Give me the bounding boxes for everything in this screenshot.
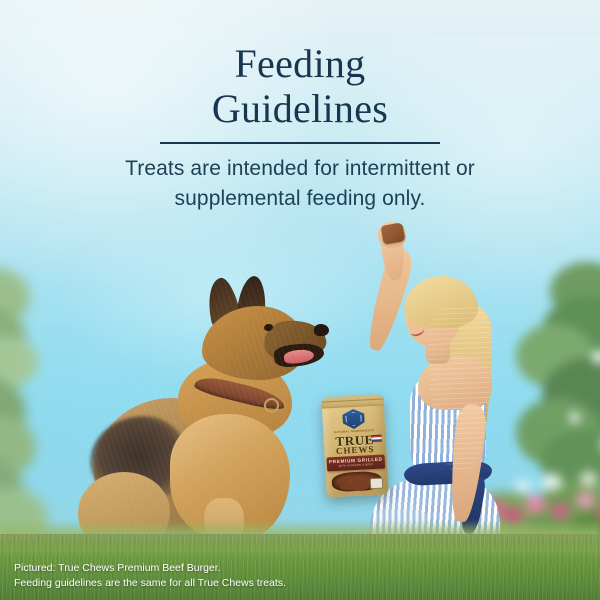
page-title: Feeding Guidelines: [0, 42, 600, 132]
caption-line1: Pictured: True Chews Premium Beef Burger…: [14, 562, 221, 574]
page-title-line2: Guidelines: [0, 87, 600, 132]
package-banner: PREMIUM GRILLED WITH CHICKEN & BEEF: [327, 454, 386, 471]
image-caption: Pictured: True Chews Premium Beef Burger…: [14, 561, 286, 593]
subtitle-line1: Treats are intended for intermittent or: [125, 157, 475, 180]
package-banner-line2: WITH CHICKEN & BEEF: [339, 464, 374, 468]
page-title-line1: Feeding: [235, 41, 366, 86]
usa-flag-icon: [371, 435, 381, 443]
caption-line2: Feeding guidelines are the same for all …: [14, 576, 286, 592]
blue-shield-logo-icon: [342, 408, 365, 429]
package-badge: [370, 478, 384, 490]
subtitle-line2: supplemental feeding only.: [40, 184, 560, 214]
title-divider: [160, 142, 440, 144]
marketing-graphic: NATURAL INGREDIENTS TRUE CHEWS PREMIUM G…: [0, 0, 600, 600]
dog-treat-icon: [381, 222, 406, 245]
true-chews-package: NATURAL INGREDIENTS TRUE CHEWS PREMIUM G…: [321, 394, 388, 497]
subtitle: Treats are intended for intermittent or …: [40, 154, 560, 214]
